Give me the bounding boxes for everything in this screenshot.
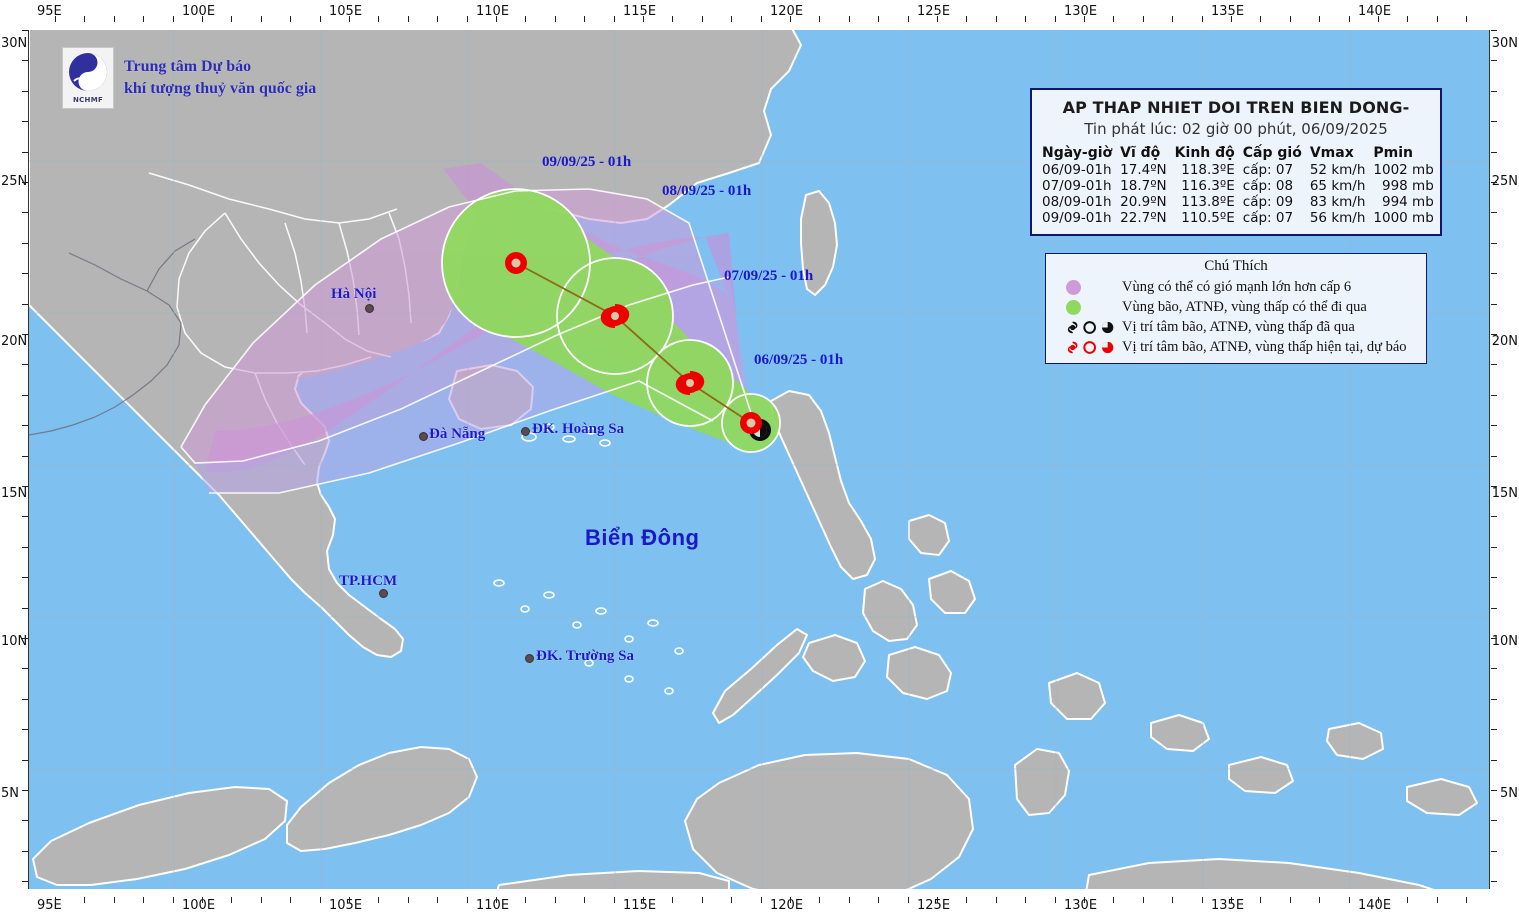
agency-logo-block: NCHMF Trung tâm Dự báo khí tượng thuỷ vă… [62,47,316,109]
lon-minor-tick [202,897,203,903]
lon-minor-tick [555,897,556,903]
forecast-cell-vmax: 83 km/h [1306,194,1370,210]
forecast-cell-lon: 118.3ºE [1171,162,1239,178]
black-circle-outline-icon [1083,320,1096,335]
forecast-cell-lon: 110.5ºE [1171,210,1239,226]
lon-tick-bot-3: 110E [476,898,509,913]
purple-circle-icon [1066,280,1081,295]
lat-tick-right-5: 5N [1500,786,1518,801]
lon-minor-tick [1055,897,1056,903]
lon-minor-tick [1025,897,1026,903]
forecast-cell-datetime: 07/09-01h [1038,178,1116,194]
city-label-danang: Đà Nẵng [429,426,485,443]
weather-map-page: Biển Đông Hà Nội Đà Nẵng ĐK. Hoàng Sa TP… [0,0,1519,919]
lon-minor-tick [908,16,909,22]
lon-minor-tick [996,16,997,22]
forecast-cell-lat: 17.4ºN [1116,162,1171,178]
lon-minor-tick [320,897,321,903]
lon-minor-tick [966,16,967,22]
lon-minor-tick [1378,897,1379,903]
lon-minor-tick [672,16,673,22]
lat-minor-tick [1491,820,1497,821]
lat-minor-tick [22,91,28,92]
lat-minor-tick [1491,30,1497,31]
forecast-cell-lat: 18.7ºN [1116,178,1171,194]
lon-minor-tick [231,16,232,22]
lon-minor-tick [996,897,997,903]
city-label-tphcm: TP.HCM [339,573,397,590]
city-label-truongsa: ĐK. Trường Sa [536,648,634,665]
lat-minor-tick [1491,364,1497,365]
sea-label-bien-dong: Biển Đông [585,525,700,551]
legend-label-0: Vùng có thể có gió mạnh lớn hơn cấp 6 [1122,279,1351,296]
nchmf-logo-icon: NCHMF [62,47,114,109]
lon-minor-tick [790,16,791,22]
lat-minor-tick [1491,425,1497,426]
map-legend: Chú Thích Vùng có thể có gió mạnh lớn hơ… [1045,253,1427,364]
forecast-cell-datetime: 09/09-01h [1038,210,1116,226]
forecast-cell-cap: cấp: 07 [1239,210,1306,226]
legend-icons-3 [1052,340,1114,355]
forecast-cell-datetime: 08/09-01h [1038,194,1116,210]
lat-minor-tick [1491,243,1497,244]
axis-left [0,0,28,919]
lat-minor-tick [1491,334,1497,335]
lon-minor-tick [1466,16,1467,22]
forecast-cell-lat: 20.9ºN [1116,194,1171,210]
lat-minor-tick [22,304,28,305]
forecast-cell-pmin: 998 mb [1369,178,1437,194]
lat-minor-tick [22,121,28,122]
lon-minor-tick [1319,16,1320,22]
lat-minor-tick [22,790,28,791]
lon-minor-tick [496,897,497,903]
lon-minor-tick [1143,16,1144,22]
lon-minor-tick [1172,897,1173,903]
lat-minor-tick [22,243,28,244]
lon-minor-tick [731,897,732,903]
lon-minor-tick [819,16,820,22]
lon-minor-tick [1172,16,1173,22]
legend-icons-1 [1052,300,1114,315]
lon-tick-top-3: 110E [476,4,509,19]
lon-minor-tick [143,897,144,903]
legend-title: Chú Thích [1052,258,1420,275]
forecast-cell-datetime: 06/09-01h [1038,162,1116,178]
lat-minor-tick [22,608,28,609]
lat-minor-tick [22,729,28,730]
forecast-col-2: Kinh độ [1171,144,1239,162]
agency-name-line2: khí tượng thuỷ văn quốc gia [124,78,316,100]
lon-minor-tick [496,16,497,22]
forecast-cell-vmax: 56 km/h [1306,210,1370,226]
lon-minor-tick [84,16,85,22]
legend-icons-0 [1052,280,1114,295]
lon-minor-tick [290,16,291,22]
forecast-cell-cap: cấp: 08 [1239,178,1306,194]
nchmf-badge-text: NCHMF [73,96,103,104]
black-half-circle-icon [1101,320,1114,335]
panel-issue-time: Tin phát lúc: 02 giờ 00 phút, 06/09/2025 [1038,120,1434,138]
city-label-hanoi: Hà Nội [331,286,376,303]
lat-tick-right-3: 15N [1492,486,1518,501]
lon-minor-tick [1407,16,1408,22]
lat-minor-tick [1491,273,1497,274]
lon-minor-tick [1349,16,1350,22]
lon-minor-tick [173,897,174,903]
lon-minor-tick [1407,897,1408,903]
lat-minor-tick [1491,851,1497,852]
lon-minor-tick [173,16,174,22]
lat-tick-left-2: 20N [1,334,27,349]
lon-minor-tick [1349,897,1350,903]
forecast-cell-vmax: 65 km/h [1306,178,1370,194]
lon-minor-tick [320,16,321,22]
lon-minor-tick [1466,897,1467,903]
lon-minor-tick [761,16,762,22]
lon-minor-tick [1290,897,1291,903]
forecast-col-1: Vĩ độ [1116,144,1171,162]
lon-tick-bot-1: 100E [182,898,215,913]
lat-minor-tick [22,760,28,761]
lon-minor-tick [584,16,585,22]
lon-tick-bot-6: 125E [917,898,950,913]
panel-title: AP THAP NHIET DOI TREN BIEN DONG- [1038,98,1434,117]
lat-minor-tick [22,851,28,852]
lon-minor-tick [878,16,879,22]
lat-minor-tick [22,638,28,639]
agency-name: Trung tâm Dự báo khí tượng thuỷ văn quốc… [124,56,316,99]
lon-tick-bot-8: 135E [1211,898,1244,913]
lon-tick-top-1: 100E [182,4,215,19]
lon-minor-tick [1319,897,1320,903]
lat-minor-tick [22,182,28,183]
lon-minor-tick [966,897,967,903]
legend-item-0: Vùng có thể có gió mạnh lớn hơn cấp 6 [1052,277,1420,297]
lon-minor-tick [643,16,644,22]
lon-minor-tick [378,16,379,22]
lat-minor-tick [1491,121,1497,122]
lat-minor-tick [1491,760,1497,761]
lat-minor-tick [1491,881,1497,882]
lon-minor-tick [937,897,938,903]
lon-minor-tick [143,16,144,22]
agency-name-line1: Trung tâm Dự báo [124,56,316,78]
lon-minor-tick [55,897,56,903]
city-dot-danang [419,432,428,441]
lon-minor-tick [1290,16,1291,22]
lon-tick-top-4: 115E [623,4,656,19]
lat-minor-tick [1491,60,1497,61]
lat-minor-tick [1491,790,1497,791]
lat-minor-tick [22,152,28,153]
lon-minor-tick [408,897,409,903]
forecast-row: 07/09-01h18.7ºN116.3ºEcấp: 0865 km/h998 … [1038,178,1438,194]
forecast-info-panel: AP THAP NHIET DOI TREN BIEN DONG- Tin ph… [1030,88,1442,236]
forecast-row: 06/09-01h17.4ºN118.3ºEcấp: 0752 km/h1002… [1038,162,1438,178]
lat-minor-tick [1491,516,1497,517]
lat-minor-tick [22,668,28,669]
forecast-row: 09/09-01h22.7ºN110.5ºEcấp: 0756 km/h1000… [1038,210,1438,226]
lat-minor-tick [1491,608,1497,609]
forecast-cell-lon: 113.8ºE [1171,194,1239,210]
lon-minor-tick [672,897,673,903]
city-dot-hanoi [365,304,374,313]
legend-label-1: Vùng bão, ATNĐ, vùng thấp có thể đi qua [1122,299,1367,316]
lat-minor-tick [1491,547,1497,548]
lon-minor-tick [731,16,732,22]
lon-minor-tick [437,897,438,903]
forecast-col-5: Pmin [1369,144,1437,162]
lat-minor-tick [22,516,28,517]
lat-minor-tick [22,334,28,335]
lon-tick-bot-9: 140E [1358,898,1391,913]
lat-minor-tick [22,30,28,31]
lon-tick-top-8: 135E [1211,4,1244,19]
track-date-label-0709: 07/09/25 - 01h [724,268,813,285]
lat-tick-left-3: 15N [1,486,27,501]
lon-tick-bot-4: 115E [623,898,656,913]
lat-tick-right-2: 20N [1492,334,1518,349]
lon-minor-tick [614,16,615,22]
lon-minor-tick [437,16,438,22]
lon-minor-tick [114,897,115,903]
lon-tick-bot-7: 130E [1064,898,1097,913]
lon-minor-tick [467,16,468,22]
lon-tick-bot-0: 95E [37,898,62,913]
forecast-cell-cap: cấp: 09 [1239,194,1306,210]
lat-minor-tick [1491,304,1497,305]
lon-tick-bot-2: 105E [329,898,362,913]
forecast-col-3: Cấp gió [1239,144,1306,162]
lon-minor-tick [1437,897,1438,903]
marker-depression-0909 [505,252,527,274]
lon-tick-top-0: 95E [37,4,62,19]
city-dot-tphcm [379,589,388,598]
forecast-table: Ngày-giờVĩ độKinh độCấp gióVmaxPmin 06/0… [1038,144,1438,226]
legend-label-2: Vị trí tâm bão, ATNĐ, vùng thấp đã qua [1122,319,1355,336]
lon-minor-tick [878,897,879,903]
forecast-cell-lat: 22.7ºN [1116,210,1171,226]
lon-minor-tick [1113,897,1114,903]
lat-minor-tick [1491,152,1497,153]
lat-minor-tick [22,820,28,821]
lon-minor-tick [1260,897,1261,903]
lon-minor-tick [55,16,56,22]
lat-tick-left-4: 10N [1,634,27,649]
legend-item-2: Vị trí tâm bão, ATNĐ, vùng thấp đã qua [1052,317,1420,337]
lon-tick-top-9: 140E [1358,4,1391,19]
red-circle-outline-icon [1083,340,1096,355]
forecast-cell-pmin: 994 mb [1369,194,1437,210]
black-typhoon-icon [1066,320,1079,335]
lon-minor-tick [1084,897,1085,903]
city-dot-hoangsa [521,427,530,436]
lon-minor-tick [1113,16,1114,22]
lon-minor-tick [761,897,762,903]
lat-minor-tick [1491,729,1497,730]
forecast-cell-pmin: 1000 mb [1369,210,1437,226]
lon-tick-top-2: 105E [329,4,362,19]
lon-minor-tick [1202,897,1203,903]
lon-minor-tick [1055,16,1056,22]
lon-minor-tick [261,16,262,22]
lon-minor-tick [1437,16,1438,22]
lon-minor-tick [525,897,526,903]
lon-minor-tick [290,897,291,903]
lon-minor-tick [643,897,644,903]
axis-top [0,0,1519,30]
lon-minor-tick [202,16,203,22]
city-label-hoangsa: ĐK. Hoàng Sa [532,421,624,438]
axis-bottom [0,889,1519,919]
lat-tick-left-0: 30N [1,36,27,51]
lat-minor-tick [22,486,28,487]
forecast-col-0: Ngày-giờ [1038,144,1116,162]
lon-minor-tick [614,897,615,903]
lon-minor-tick [849,16,850,22]
lat-minor-tick [22,881,28,882]
lon-minor-tick [261,897,262,903]
lon-minor-tick [702,16,703,22]
legend-label-3: Vị trí tâm bão, ATNĐ, vùng thấp hiện tại… [1122,339,1407,356]
forecast-table-body: 06/09-01h17.4ºN118.3ºEcấp: 0752 km/h1002… [1038,162,1438,226]
lon-minor-tick [790,897,791,903]
lat-minor-tick [22,425,28,426]
marker-current-0609 [740,412,762,434]
lat-minor-tick [22,547,28,548]
lat-minor-tick [22,212,28,213]
lat-tick-right-0: 30N [1492,36,1518,51]
track-date-label-0809: 08/09/25 - 01h [662,183,751,200]
city-dot-truongsa [525,654,534,663]
lat-tick-left-5: 5N [1,786,19,801]
lat-minor-tick [22,60,28,61]
lat-minor-tick [1491,456,1497,457]
forecast-cell-cap: cấp: 07 [1239,162,1306,178]
lon-minor-tick [1202,16,1203,22]
lon-minor-tick [702,897,703,903]
lon-minor-tick [1231,897,1232,903]
lat-minor-tick [1491,486,1497,487]
red-half-circle-icon [1101,340,1114,355]
track-date-label-0909: 09/09/25 - 01h [542,154,631,171]
forecast-cell-pmin: 1002 mb [1369,162,1437,178]
lat-minor-tick [22,395,28,396]
green-circle-icon [1066,300,1081,315]
lon-minor-tick [1260,16,1261,22]
track-date-label-0609: 06/09/25 - 01h [754,352,843,369]
lon-tick-top-7: 130E [1064,4,1097,19]
legend-icons-2 [1052,320,1114,335]
lon-minor-tick [231,897,232,903]
lat-minor-tick [22,273,28,274]
lon-minor-tick [408,16,409,22]
lat-minor-tick [1491,577,1497,578]
lon-tick-top-6: 125E [917,4,950,19]
forecast-cell-lon: 116.3ºE [1171,178,1239,194]
lon-minor-tick [1378,16,1379,22]
lat-minor-tick [22,577,28,578]
lat-minor-tick [1491,699,1497,700]
forecast-table-header-row: Ngày-giờVĩ độKinh độCấp gióVmaxPmin [1038,144,1438,162]
lon-tick-top-5: 120E [770,4,803,19]
lat-minor-tick [1491,638,1497,639]
red-typhoon-icon [1066,340,1079,355]
lon-minor-tick [349,897,350,903]
lat-minor-tick [1491,395,1497,396]
lat-minor-tick [1491,182,1497,183]
lon-minor-tick [1231,16,1232,22]
lat-minor-tick [22,699,28,700]
lon-minor-tick [525,16,526,22]
lon-minor-tick [555,16,556,22]
legend-item-1: Vùng bão, ATNĐ, vùng thấp có thể đi qua [1052,297,1420,317]
lat-minor-tick [1491,91,1497,92]
lon-minor-tick [819,897,820,903]
legend-item-3: Vị trí tâm bão, ATNĐ, vùng thấp hiện tại… [1052,337,1420,357]
lon-minor-tick [84,897,85,903]
lat-tick-right-4: 10N [1492,634,1518,649]
lat-minor-tick [1491,212,1497,213]
lon-minor-tick [908,897,909,903]
lon-tick-bot-5: 120E [770,898,803,913]
axis-right [1491,0,1519,919]
lon-minor-tick [349,16,350,22]
legend-rows: Vùng có thể có gió mạnh lớn hơn cấp 6Vùn… [1052,277,1420,357]
lat-minor-tick [22,456,28,457]
lon-minor-tick [1143,897,1144,903]
lat-minor-tick [1491,668,1497,669]
forecast-cell-vmax: 52 km/h [1306,162,1370,178]
lon-minor-tick [849,897,850,903]
forecast-col-4: Vmax [1306,144,1370,162]
lon-minor-tick [584,897,585,903]
lon-minor-tick [114,16,115,22]
lon-minor-tick [1084,16,1085,22]
lon-minor-tick [937,16,938,22]
lon-minor-tick [467,897,468,903]
forecast-row: 08/09-01h20.9ºN113.8ºEcấp: 0983 km/h994 … [1038,194,1438,210]
lon-minor-tick [378,897,379,903]
lat-minor-tick [22,364,28,365]
lon-minor-tick [1025,16,1026,22]
